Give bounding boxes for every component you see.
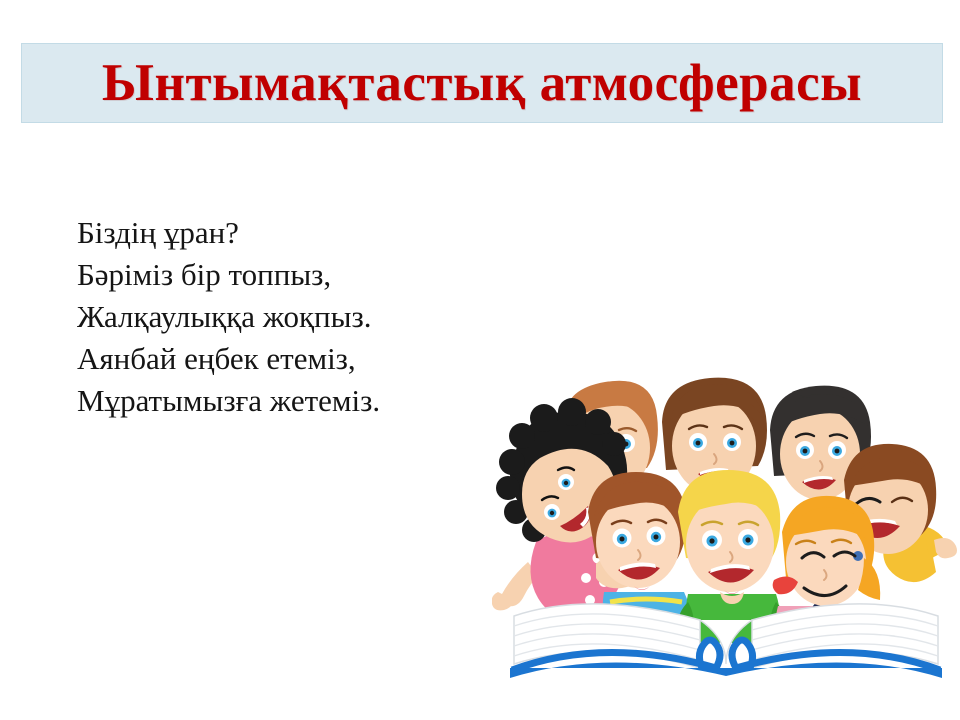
verse-line: Біздің ұран? [77,212,507,254]
verse-line: Жалқаулыққа жоқпыз. [77,296,507,338]
children-with-open-book-illustration [492,330,960,698]
collar-accent [773,576,798,594]
verse-line: Аянбай еңбек етеміз, [77,338,507,380]
verse-line: Бәріміз бір топпыз, [77,254,507,296]
title-banner: Ынтымақтастық атмосферасы [21,43,943,123]
verse-line: Мұратымызға жетеміз. [77,380,507,422]
verse-text-block: Біздің ұран? Бәріміз бір топпыз, Жалқаул… [77,212,507,422]
page-title: Ынтымақтастық атмосферасы [102,57,862,110]
slide-canvas: Ынтымақтастық атмосферасы Біздің ұран? Б… [0,0,960,720]
